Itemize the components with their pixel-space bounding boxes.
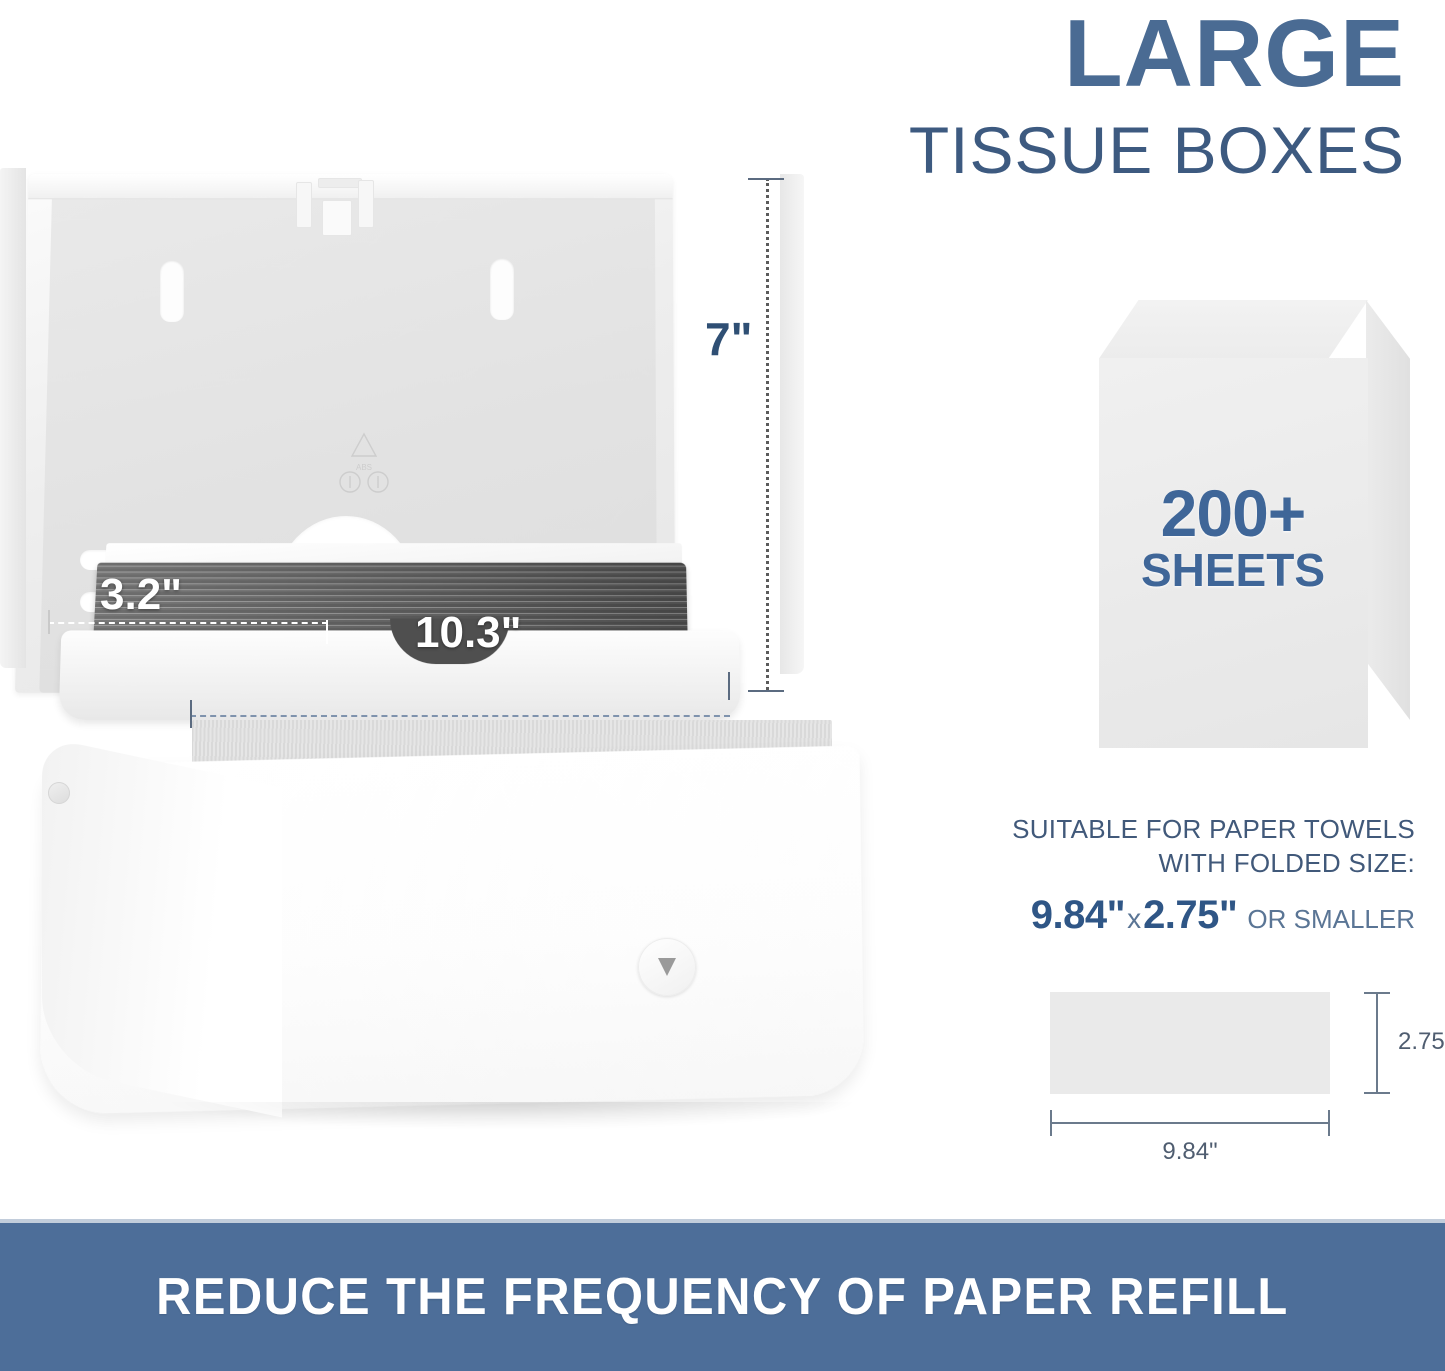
bottom-banner: REDUCE THE FREQUENCY OF PAPER REFILL [0,1219,1445,1371]
dimension-tick [190,700,192,728]
sheet-count-label: SHEETS [1098,547,1368,594]
suitability-text-block: SUITABLE FOR PAPER TOWELS WITH FOLDED SI… [995,812,1415,938]
stack-top-sheet [105,543,682,564]
page-title: LARGE [909,4,1405,105]
banner-text: REDUCE THE FREQUENCY OF PAPER REFILL [156,1267,1289,1327]
towel-rectangle [1050,992,1330,1094]
dispenser-tray [59,630,742,720]
dimension-line-width [190,715,730,717]
svg-text:ABS: ABS [356,463,372,472]
keyhole-mount-icon [160,260,184,322]
sheet-count-value: 200+ [1098,480,1368,547]
dimension-label-stack-width: 10.3" [415,608,522,658]
lock-icon [638,938,696,996]
towel-width-label: 9.84" [1020,1138,1360,1166]
dimension-line-horizontal [1050,1122,1330,1124]
box-side-face [1366,300,1410,720]
dimension-line-height [766,178,769,690]
size-separator: x [1127,903,1141,935]
folded-width-value: 9.84" [1031,893,1125,938]
dimension-tick [48,610,50,634]
dimension-tick [1364,992,1390,994]
dimension-tick [326,620,328,644]
lid-left-wall [0,168,26,668]
dimension-tick [1328,1110,1330,1136]
or-smaller-label: OR SMALLER [1247,904,1415,935]
folded-size-line: 9.84" x 2.75" OR SMALLER [995,893,1415,938]
dimension-tick [728,672,730,700]
box-text-block: 200+ SHEETS [1098,480,1368,594]
dispenser-front-cover [42,710,902,1130]
dimension-line-vertical [1376,992,1378,1094]
towel-height-label: 2.75" [1398,1028,1445,1056]
dimension-tick [1050,1110,1052,1136]
dimension-label-height: 7" [705,312,752,366]
dimension-tick [1364,1092,1390,1094]
headline-block: LARGE TISSUE BOXES [909,4,1405,191]
dimension-tick [748,690,784,692]
dimension-line-stack-height [48,622,328,624]
box-top-face [1098,300,1368,360]
recycle-abs-icon: ABS [322,428,406,494]
suitability-line-2: WITH FOLDED SIZE: [995,846,1415,880]
latch-clip-icon [296,178,408,236]
product-illustration: ABS [0,150,800,1100]
keyhole-mount-icon [490,258,514,320]
drop-shadow [162,1102,862,1130]
dimension-label-stack-height: 3.2" [100,570,182,620]
folded-height-value: 2.75" [1143,893,1237,938]
lid-right-wall [780,174,804,674]
sheet-count-box: 200+ SHEETS [1098,300,1410,750]
dimension-tick [748,178,784,180]
page-subtitle: TISSUE BOXES [909,109,1405,192]
cover-left-face [42,736,282,1117]
folded-towel-diagram: 2.75" 9.84" [1020,968,1440,1178]
hinge-pin-icon [48,782,70,804]
suitability-line-1: SUITABLE FOR PAPER TOWELS [995,812,1415,846]
